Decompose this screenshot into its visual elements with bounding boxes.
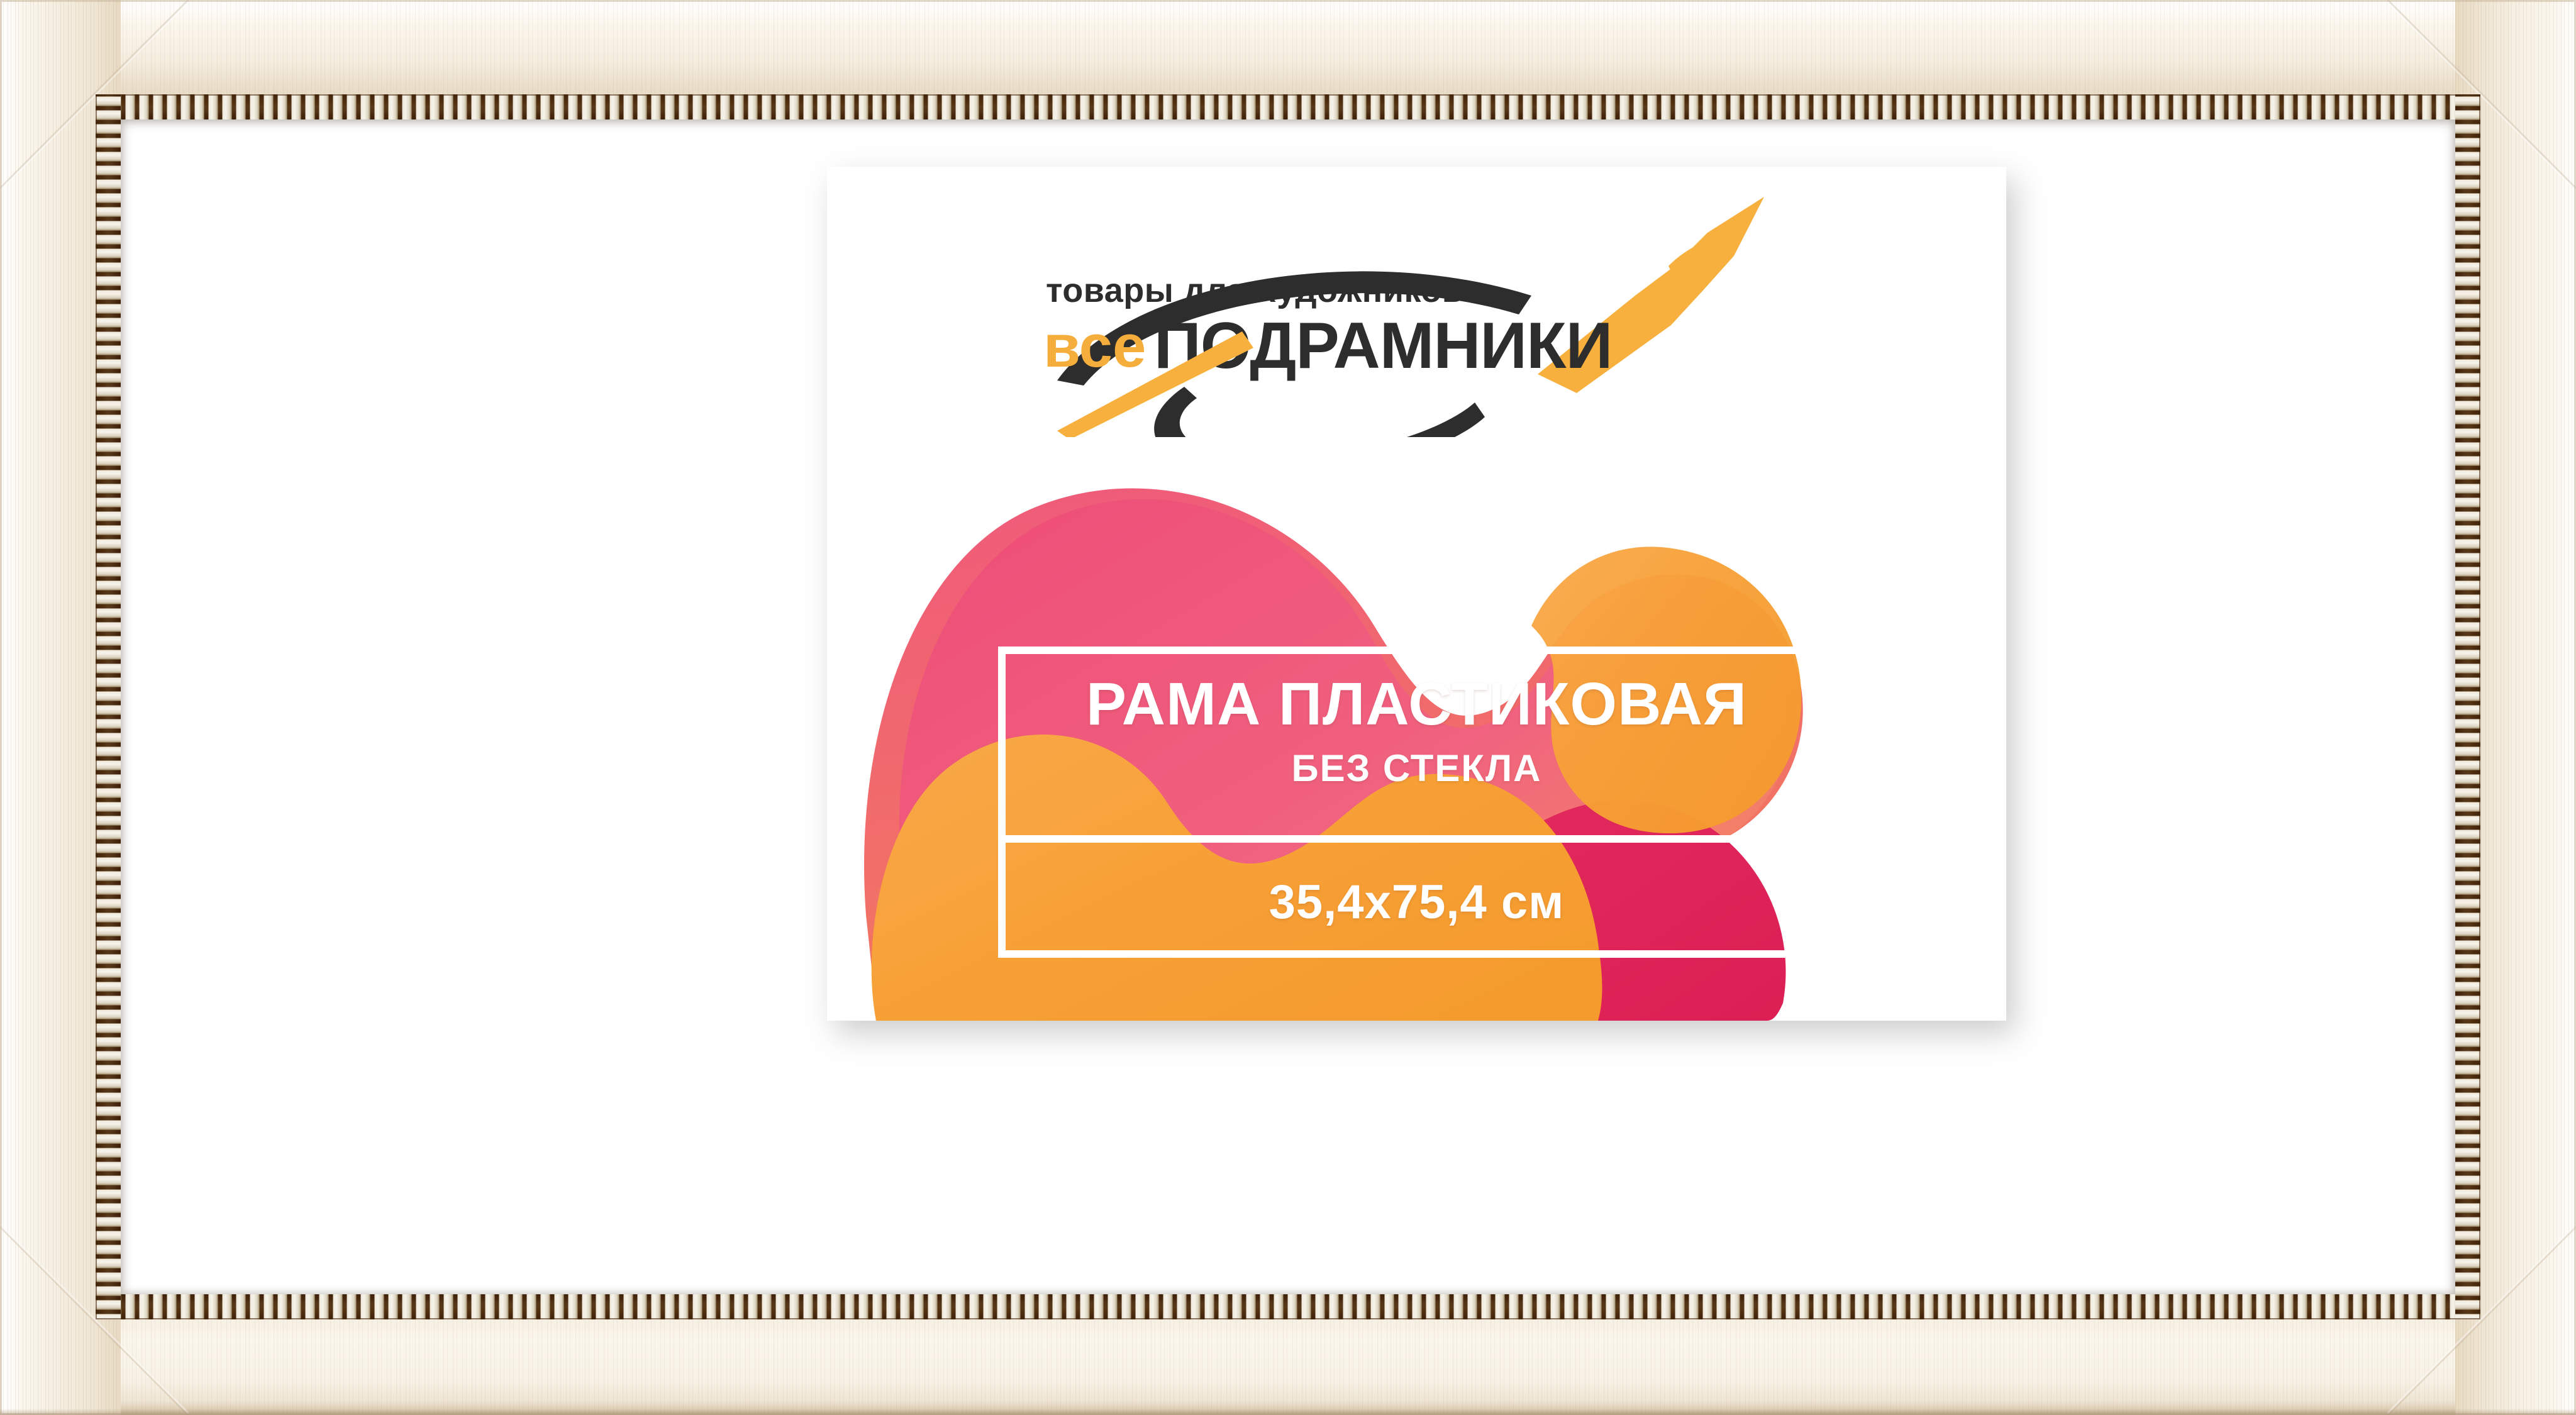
bead-pearls-left: [96, 94, 121, 1319]
bead-pearls-bottom: [96, 1294, 2480, 1319]
frame-bottom-edge: [0, 1409, 2576, 1415]
logo-tagline: товары для художников: [1046, 272, 1463, 309]
bead-strip-top: [96, 94, 2480, 119]
product-photo: товары для художников все ПОДРАМНИКИ: [0, 0, 2576, 1415]
bead-pearls-right: [2455, 94, 2480, 1319]
brand-logo: товары для художников все ПОДРАМНИКИ: [1035, 186, 1814, 437]
bead-pearls-top: [96, 94, 2480, 119]
product-size: 35,4x75,4 см: [827, 877, 2006, 928]
swoosh-bottom-icon: [1154, 387, 1485, 437]
frame-canvas-area: товары для художников все ПОДРАМНИКИ: [121, 119, 2455, 1294]
bead-strip-right: [2455, 94, 2480, 1319]
product-info-card: товары для художников все ПОДРАМНИКИ: [827, 167, 2006, 1021]
bead-strip-left: [96, 94, 121, 1319]
product-title: Рама пластиковая: [827, 673, 2006, 736]
spec-box-divider: [998, 835, 1836, 843]
bead-strip-bottom: [96, 1294, 2480, 1319]
product-subtitle: Без стекла: [827, 748, 2006, 789]
logo-brand-prefix: все: [1043, 313, 1146, 380]
